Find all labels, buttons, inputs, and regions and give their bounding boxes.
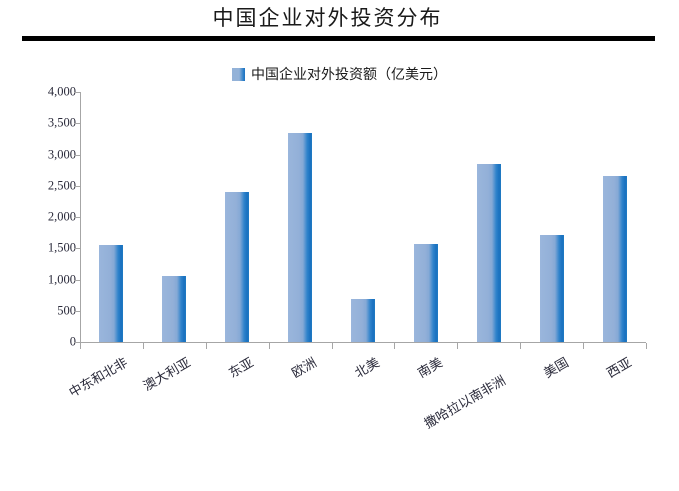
- x-axis-tick: [583, 343, 584, 349]
- y-axis-tick: [74, 342, 80, 343]
- y-axis-tick: [74, 311, 80, 312]
- y-axis-tick-label: 1,500: [24, 241, 76, 256]
- bar[interactable]: [603, 176, 627, 342]
- x-axis-tick: [206, 343, 207, 349]
- y-axis-tick: [74, 186, 80, 187]
- x-axis-tick: [143, 343, 144, 349]
- x-axis-line: [80, 342, 646, 343]
- bar[interactable]: [288, 133, 312, 342]
- y-axis-tick-label: 0: [24, 335, 76, 350]
- bar[interactable]: [414, 244, 438, 342]
- x-axis-tick: [269, 343, 270, 349]
- bar[interactable]: [225, 192, 249, 342]
- y-axis-tick-label: 2,500: [24, 178, 76, 193]
- y-axis-tick-label: 4,000: [24, 85, 76, 100]
- y-axis-tick-label: 3,000: [24, 147, 76, 162]
- x-axis-tick: [394, 343, 395, 349]
- y-axis-tick: [74, 123, 80, 124]
- y-axis-tick: [74, 280, 80, 281]
- y-axis-tick-label: 3,500: [24, 116, 76, 131]
- x-axis-tick: [332, 343, 333, 349]
- y-axis-tick-label: 2,000: [24, 210, 76, 225]
- bar[interactable]: [162, 276, 186, 342]
- bar[interactable]: [477, 164, 501, 342]
- bar[interactable]: [99, 245, 123, 342]
- y-axis-tick: [74, 217, 80, 218]
- y-axis-tick: [74, 248, 80, 249]
- x-axis-tick: [646, 343, 647, 349]
- y-axis-tick: [74, 155, 80, 156]
- y-axis-tick: [74, 92, 80, 93]
- y-axis-labels: 05001,0001,5002,0002,5003,0003,5004,000: [20, 0, 76, 431]
- bar[interactable]: [540, 235, 564, 343]
- y-axis-tick-label: 500: [24, 303, 76, 318]
- x-axis-tick: [80, 343, 81, 349]
- y-axis-tick-label: 1,000: [24, 272, 76, 287]
- bar[interactable]: [351, 299, 375, 342]
- x-axis-tick: [457, 343, 458, 349]
- y-axis-line: [80, 92, 81, 343]
- bar-chart-plot: 05001,0001,5002,0002,5003,0003,5004,000 …: [0, 0, 679, 431]
- x-axis-tick: [520, 343, 521, 349]
